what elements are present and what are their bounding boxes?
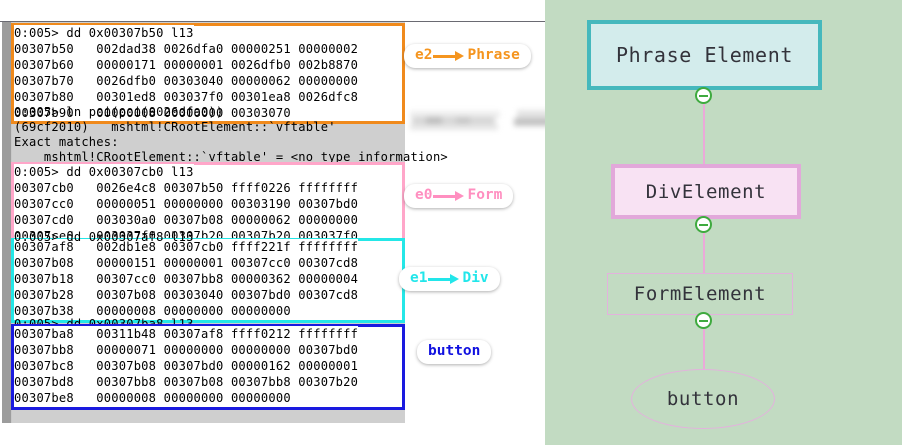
tree-node-label: DivElement xyxy=(646,181,766,203)
code-row: 00307bb8 00000071 00000000 00000000 0030… xyxy=(14,342,358,358)
code-command-form: 0:005> dd 0x00307cb0 l13 xyxy=(14,164,194,180)
redacted-region xyxy=(404,108,545,132)
arrow-right-icon xyxy=(428,273,461,285)
collapse-minus-icon-form[interactable] xyxy=(695,312,712,329)
code-row: 00307b60 00000171 00000001 0026dfb0 002b… xyxy=(14,57,358,73)
code-command-ln: 0:005> ln poi(poi(0026dfa0)) xyxy=(14,104,223,120)
code-row: 00307b80 00301ed8 003037f0 00301ea8 0026… xyxy=(14,89,358,105)
code-row: 00307cd0 003030a0 00307b08 00000062 0000… xyxy=(14,212,358,228)
code-row: 00307b18 00307cc0 00307bb8 00000362 0000… xyxy=(14,271,358,287)
tree-node-div-element[interactable]: DivElement xyxy=(611,164,801,219)
collapse-minus-icon-div[interactable] xyxy=(695,216,712,233)
annotation-form: e0 Form xyxy=(404,184,513,208)
annotation-target: Phrase xyxy=(467,47,519,64)
code-exact-matches-label: Exact matches: xyxy=(14,134,119,150)
code-row: 00307b08 00000151 00000001 00307cc0 0030… xyxy=(14,255,358,271)
debugger-output-pane[interactable]: 0:005> dd 0x00307b50 l13 00307b50 002dad… xyxy=(0,0,545,445)
tree-node-label: Phrase Element xyxy=(616,43,793,67)
code-row: 00307bc8 00307b08 00307bd0 00000162 0000… xyxy=(14,358,358,374)
dom-tree-diagram-pane: Phrase Element DivElement FormElement bu… xyxy=(545,0,902,445)
annotation-phrase: e2 Phrase xyxy=(404,44,531,68)
annotation-button: button xyxy=(417,340,491,364)
tree-node-button[interactable]: button xyxy=(631,369,775,429)
annotation-tag: e2 xyxy=(415,47,432,64)
code-row: 00307ba8 00311b48 00307af8 ffff0212 ffff… xyxy=(14,326,358,342)
annotation-div: e1 Div xyxy=(399,267,500,291)
annotation-target: Div xyxy=(462,270,488,287)
screenshot-root: 0:005> dd 0x00307b50 l13 00307b50 002dad… xyxy=(0,0,902,445)
annotation-target: Form xyxy=(467,187,502,204)
code-ln-result: (69cf2010) mshtml!CRootElement::`vftable… xyxy=(14,119,336,135)
code-row: 00307b50 002dad38 0026dfa0 00000251 0000… xyxy=(14,41,358,57)
annotation-target: button xyxy=(428,343,480,360)
collapse-minus-icon-phrase[interactable] xyxy=(695,87,712,104)
annotation-tag: e1 xyxy=(410,270,427,287)
code-row: 00307cb0 0026e4c8 00307b50 ffff0226 ffff… xyxy=(14,180,358,196)
tree-node-phrase-element[interactable]: Phrase Element xyxy=(587,20,822,90)
code-row: 00307b70 0026dfb0 00303040 00000062 0000… xyxy=(14,73,358,89)
code-command-div-echo: 0:005> dd 0x00307af8 l13 xyxy=(14,229,194,245)
code-row: 00307be8 00000008 00000000 00000000 xyxy=(14,390,291,406)
tree-node-label: button xyxy=(667,388,739,410)
annotation-tag: e0 xyxy=(415,187,432,204)
tree-node-form-element[interactable]: FormElement xyxy=(607,273,793,315)
code-row: 00307b28 00307b08 00303040 00307bd0 0030… xyxy=(14,287,358,303)
arrow-right-icon xyxy=(433,190,466,202)
arrow-right-icon xyxy=(433,50,466,62)
code-row: 00307cc0 00000051 00000000 00303190 0030… xyxy=(14,196,358,212)
code-row: 00307bd8 00307bb8 00307b08 00307bb8 0030… xyxy=(14,374,358,390)
code-command-phrase: 0:005> dd 0x00307b50 l13 xyxy=(14,25,194,41)
tree-node-label: FormElement xyxy=(634,283,766,305)
